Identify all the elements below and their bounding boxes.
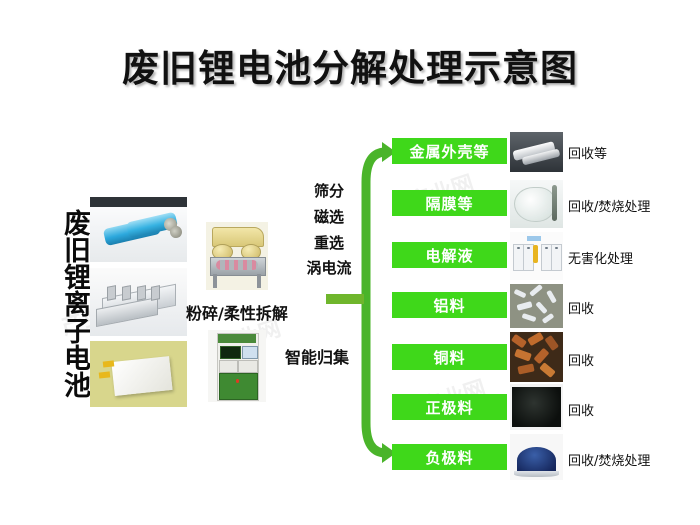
bracket-inflow-stub <box>326 294 364 304</box>
cylindrical-lithium-cells-photo <box>90 197 187 262</box>
metal-shell-photo <box>510 132 563 172</box>
disposal-label: 无害化处理 <box>568 248 633 267</box>
copper-scrap-photo <box>510 332 563 382</box>
output-product-box: 电解液 <box>392 242 507 268</box>
disposal-label: 回收 <box>568 400 594 419</box>
output-product-box: 负极料 <box>392 444 507 470</box>
diagram-canvas: 废旧锂电池分解处理示意图 产业网 产业网 产业网 产业网 废旧锂离子电池 粉碎/… <box>0 0 700 525</box>
collection-step-label: 智能归集 <box>285 344 349 368</box>
output-product-box: 铜料 <box>392 344 507 370</box>
crush-step-label: 粉碎/柔性拆解 <box>186 300 288 324</box>
separation-step: 筛分 <box>296 179 362 205</box>
separation-steps: 筛分 磁选 重选 涡电流 <box>296 179 362 282</box>
electrolyte-plant-photo <box>510 232 563 280</box>
input-label: 废旧锂离子电池 <box>44 196 88 411</box>
anode-powder-photo <box>510 434 563 480</box>
disposal-label: 回收等 <box>568 143 607 162</box>
output-product-box: 隔膜等 <box>392 190 507 216</box>
separator-film-photo <box>510 180 563 228</box>
pouch-cell-photo <box>90 341 187 407</box>
crusher-machine-photo <box>206 222 268 290</box>
separation-step: 涡电流 <box>296 256 362 282</box>
separation-step: 磁选 <box>296 205 362 231</box>
aluminum-scrap-photo <box>510 284 563 328</box>
control-cabinet-photo <box>208 330 266 402</box>
separation-step: 重选 <box>296 231 362 257</box>
disposal-label: 回收 <box>568 298 594 317</box>
output-product-box: 金属外壳等 <box>392 138 507 164</box>
prismatic-battery-modules-photo <box>90 268 187 336</box>
disposal-label: 回收 <box>568 350 594 369</box>
page-title: 废旧锂电池分解处理示意图 <box>0 38 700 92</box>
disposal-label: 回收/焚烧处理 <box>568 196 650 215</box>
output-product-box: 正极料 <box>392 394 507 420</box>
disposal-label: 回收/焚烧处理 <box>568 450 650 469</box>
output-product-box: 铝料 <box>392 292 507 318</box>
cathode-powder-photo <box>510 384 563 430</box>
